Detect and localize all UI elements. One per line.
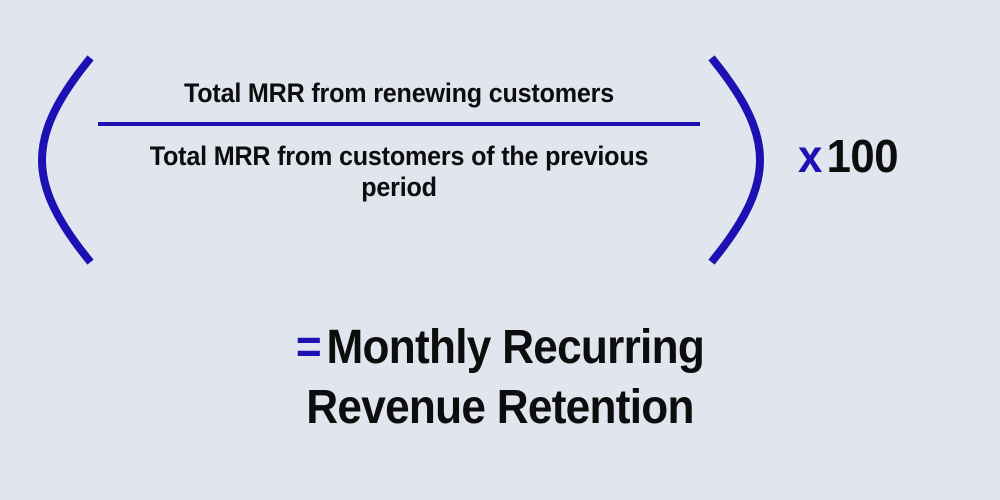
multiply-sign: x — [798, 130, 822, 182]
multiplier: x100 — [798, 129, 898, 183]
result-text-wrapper: =Monthly Recurring Revenue Retention — [261, 318, 739, 438]
fraction-denominator: Total MRR from customers of the previous… — [119, 126, 679, 203]
equals-sign: = — [296, 321, 321, 374]
formula-canvas: Total MRR from renewing customers Total … — [0, 0, 1000, 500]
fraction: Total MRR from renewing customers Total … — [98, 78, 700, 203]
left-parenthesis-icon — [36, 55, 96, 265]
right-parenthesis-icon — [706, 55, 766, 265]
formula-result: =Monthly Recurring Revenue Retention — [0, 318, 1000, 438]
result-label: Monthly Recurring Revenue Retention — [306, 321, 704, 434]
multiplier-value: 100 — [827, 130, 898, 182]
fraction-numerator: Total MRR from renewing customers — [119, 78, 679, 122]
